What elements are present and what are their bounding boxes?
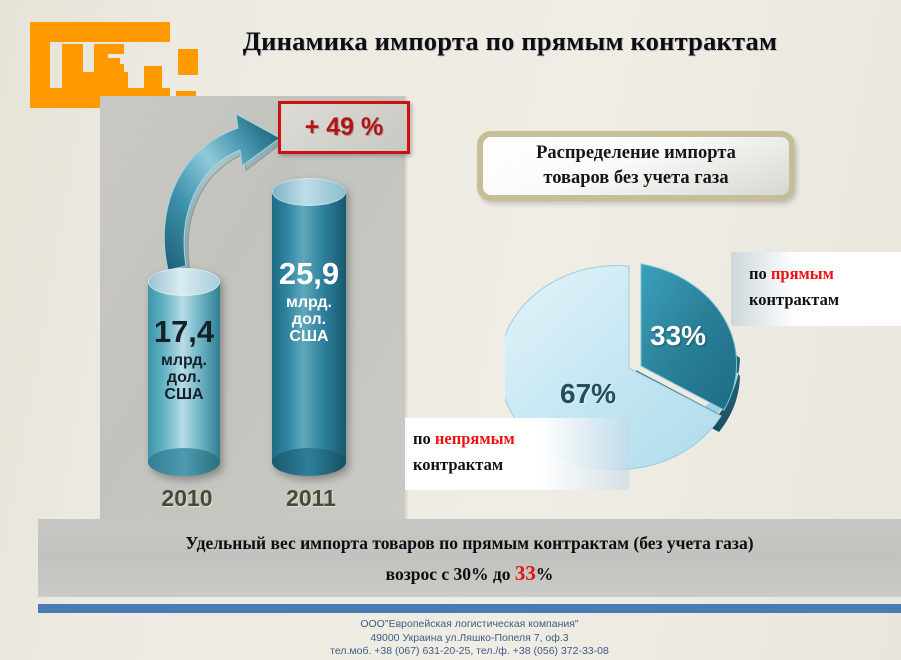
bar-2010: 17,4 млрд. дол. США [148, 268, 220, 476]
bar-2011-value: 25,9 [272, 256, 346, 292]
distribution-header-line1: Распределение импорта [536, 141, 736, 166]
callout-indirect-prefix: по [413, 429, 435, 448]
bar-2011: 25,9 млрд. дол. США [272, 178, 346, 476]
pie-slice-label-direct: 33% [650, 320, 706, 352]
pie-callout-direct: по прямым контрактам [731, 252, 901, 326]
summary-band: Удельный вес импорта товаров по прямым к… [38, 519, 901, 597]
bar-2010-value: 17,4 [148, 314, 220, 350]
callout-direct-line2: контрактам [749, 290, 839, 309]
page-title: Динамика импорта по прямым контрактам [150, 26, 870, 57]
footer-phones: тел.моб. +38 (067) 631-20-25, тел./ф. +3… [38, 645, 901, 659]
summary-line-2: возрос с 30% до 33% [386, 558, 554, 589]
axis-label-2010: 2010 [152, 485, 222, 512]
callout-indirect-highlight: непрямым [435, 429, 515, 448]
distribution-header-box: Распределение импорта товаров без учета … [477, 131, 795, 201]
callout-direct-prefix: по [749, 264, 771, 283]
axis-label-2011: 2011 [274, 485, 348, 512]
callout-direct-highlight: прямым [771, 264, 834, 283]
distribution-header-line2: товаров без учета газа [543, 166, 728, 191]
footer-contact: ООО"Европейская логистическая компания" … [38, 618, 901, 659]
summary-line-2-before: возрос с 30% до [386, 564, 515, 584]
slide-canvas: Динамика импорта по прямым контрактам + … [0, 0, 901, 660]
pie-slice-label-indirect: 67% [560, 378, 616, 410]
summary-highlight-value: 33 [515, 561, 536, 585]
bar-2010-unit: млрд. дол. США [148, 352, 220, 403]
footer-rule [38, 604, 901, 613]
footer-company: ООО"Европейская логистическая компания" [38, 618, 901, 632]
footer-address: 49000 Украина ул.Ляшко-Попеля 7, оф.3 [38, 632, 901, 646]
summary-line-2-after: % [536, 564, 554, 584]
callout-indirect-line2: контрактам [413, 455, 503, 474]
pie-callout-indirect: по непрямым контрактам [405, 418, 629, 490]
growth-percent-badge: + 49 % [278, 101, 410, 154]
bar-2011-unit: млрд. дол. США [272, 294, 346, 345]
summary-line-1: Удельный вес импорта товаров по прямым к… [185, 528, 753, 558]
